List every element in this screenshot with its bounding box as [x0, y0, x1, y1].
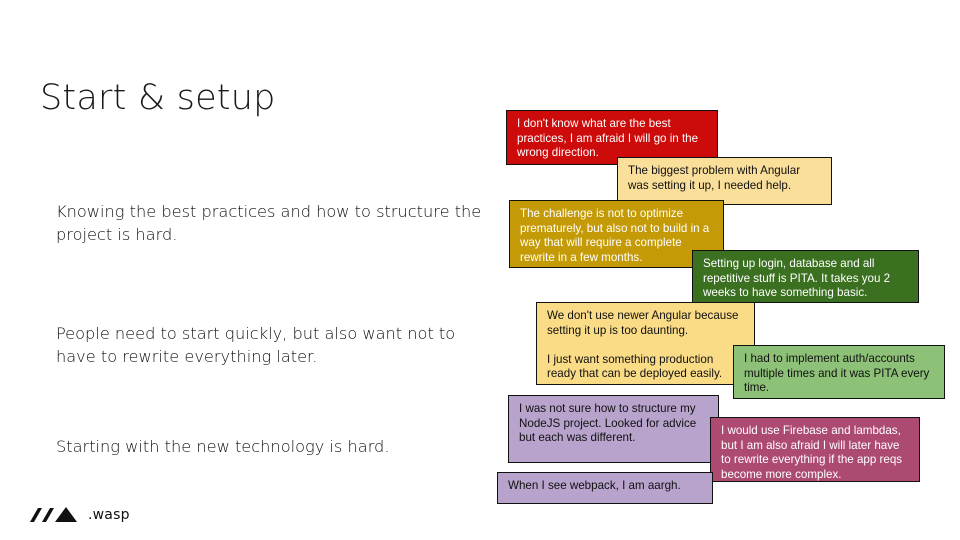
wasp-logo-icon	[27, 505, 79, 525]
page-title: Start & setup	[40, 77, 276, 119]
quote-note-text: The challenge is not to optimize prematu…	[520, 207, 714, 265]
quote-note-text: I don't know what are the best practices…	[517, 117, 708, 161]
body-point: Knowing the best practices and how to st…	[56, 200, 486, 246]
quote-note-text: Setting up login, database and all repet…	[703, 257, 909, 301]
quote-note-text: I just want something production ready t…	[547, 353, 745, 382]
quote-note: Setting up login, database and all repet…	[692, 250, 919, 303]
body-point: Starting with the new technology is hard…	[56, 435, 486, 458]
quote-note-text: We don't use newer Angular because setti…	[547, 309, 745, 338]
body-point: People need to start quickly, but also w…	[56, 322, 486, 368]
quote-note: We don't use newer Angular because setti…	[536, 302, 755, 385]
presentation-slide: Start & setup Knowing the best practices…	[0, 0, 960, 540]
quote-note: I had to implement auth/accounts multipl…	[733, 345, 945, 399]
quote-note-text: I would use Firebase and lambdas, but I …	[721, 424, 910, 482]
wasp-logo-text: .wasp	[88, 507, 130, 523]
quote-note: I would use Firebase and lambdas, but I …	[710, 417, 920, 482]
quote-note-text: I had to implement auth/accounts multipl…	[744, 352, 935, 396]
quote-note-text: I was not sure how to structure my NodeJ…	[519, 402, 709, 446]
quote-note: The biggest problem with Angular was set…	[617, 157, 832, 205]
quote-note-text: When I see webpack, I am aargh.	[508, 479, 703, 494]
quote-note-text: The biggest problem with Angular was set…	[628, 164, 822, 193]
wasp-logo: .wasp	[27, 505, 130, 525]
quote-note: I was not sure how to structure my NodeJ…	[508, 395, 719, 463]
quote-note: When I see webpack, I am aargh.	[497, 472, 713, 504]
